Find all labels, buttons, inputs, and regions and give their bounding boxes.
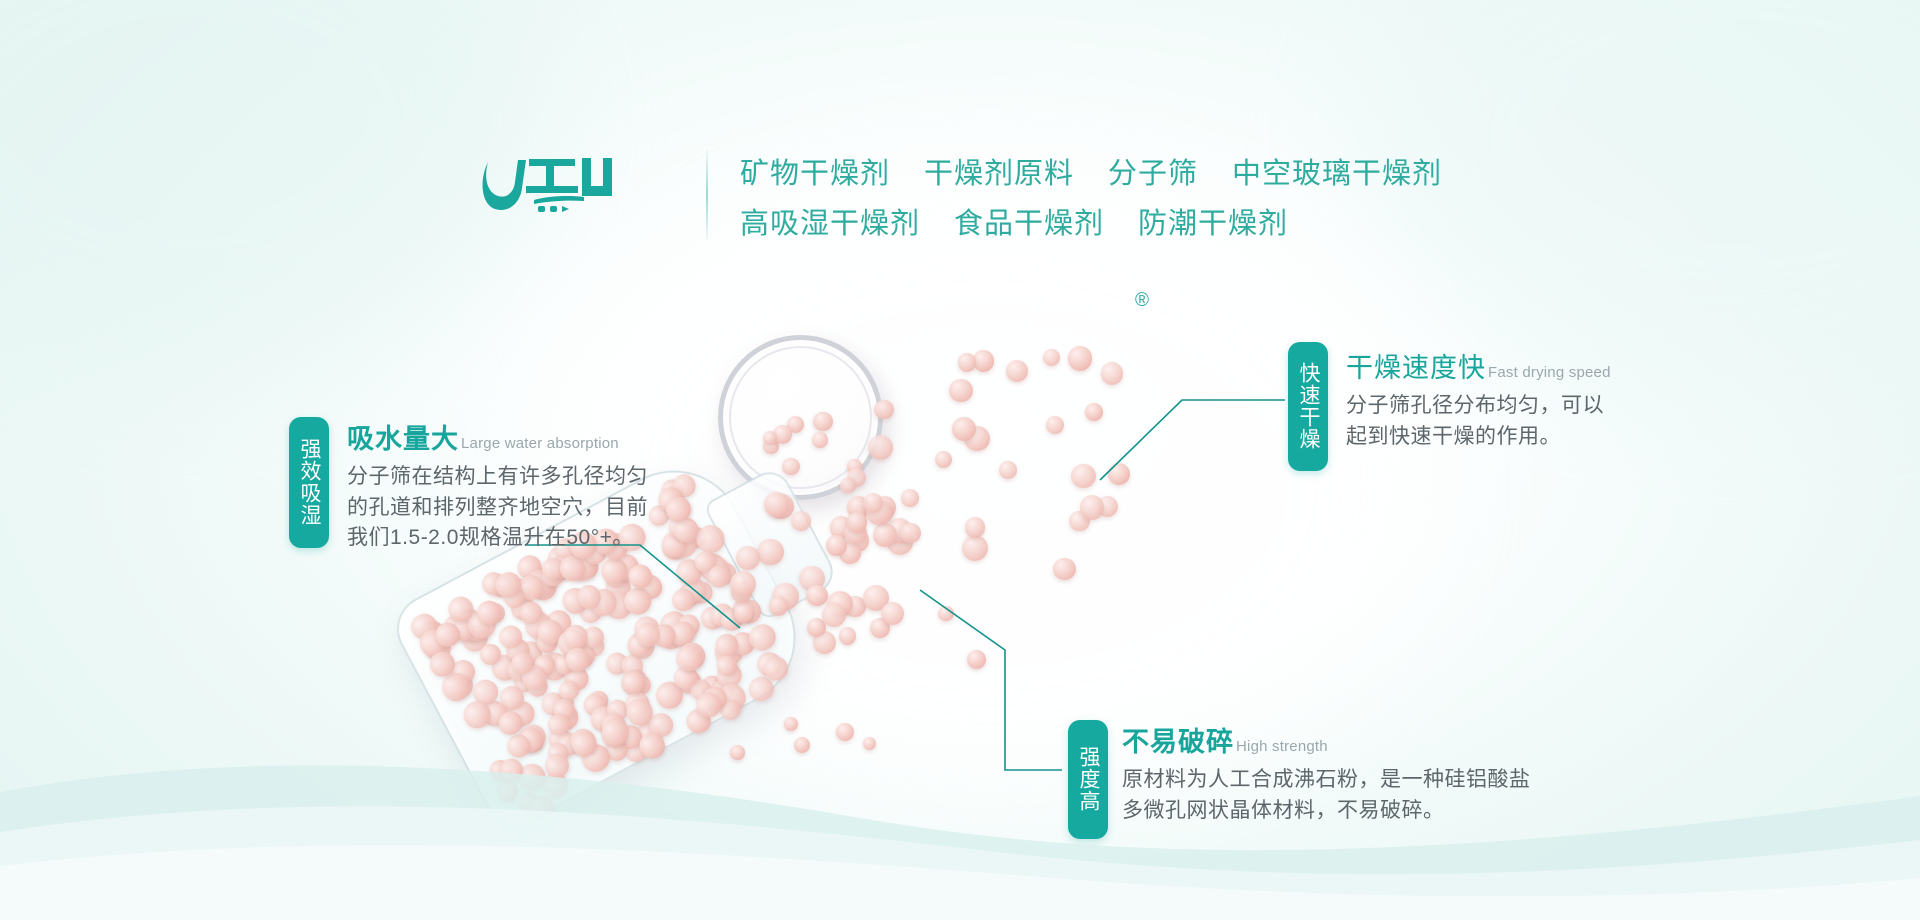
desiccant-bead (806, 585, 828, 607)
brand-logo[interactable]: ® (482, 142, 612, 222)
callout-badge-absorb: 强效吸湿 (289, 417, 329, 548)
desiccant-bead (958, 353, 976, 371)
desiccant-bead (1071, 464, 1095, 488)
callout-text-absorb: 吸水量大 Large water absorption 分子筛在结构上有许多孔径… (329, 417, 648, 554)
header-divider (706, 150, 708, 240)
text-line: 分子筛孔径分布均匀，可以 (1346, 391, 1611, 422)
callout-large-water-absorption: 强效吸湿 吸水量大 Large water absorption 分子筛在结构上… (289, 417, 648, 554)
callout-body-fast: 分子筛孔径分布均匀，可以起到快速干燥的作用。 (1346, 391, 1611, 452)
desiccant-bead (900, 523, 921, 544)
nav-item[interactable]: 防潮干燥剂 (1138, 200, 1288, 242)
registered-mark: ® (1135, 290, 1149, 312)
desiccant-bead (965, 517, 986, 538)
callout-body-absorb: 分子筛在结构上有许多孔径均匀的孔道和排列整齐地空穴，目前我们1.5-2.0规格温… (347, 462, 648, 554)
desiccant-bead (935, 451, 952, 468)
desiccant-bead (839, 627, 856, 644)
desiccant-bead (763, 431, 777, 445)
banner-stage: ® 矿物干燥剂干燥剂原料分子筛中空玻璃干燥剂高吸湿干燥剂食品干燥剂防潮干燥剂 强… (0, 0, 1920, 920)
callout-text-fast: 干燥速度快 Fast drying speed 分子筛孔径分布均匀，可以起到快速… (1328, 342, 1611, 452)
desiccant-bead (949, 379, 973, 403)
desiccant-bead (901, 489, 918, 506)
desiccant-bead (1108, 463, 1130, 485)
desiccant-bead (782, 458, 800, 476)
desiccant-bead (847, 512, 867, 532)
desiccant-bead (881, 602, 905, 626)
nav-item[interactable]: 中空玻璃干燥剂 (1232, 150, 1442, 192)
text-line: 我们1.5-2.0规格温升在50°+。 (347, 523, 648, 554)
desiccant-bead (874, 400, 894, 420)
desiccant-bead (1068, 346, 1093, 371)
desiccant-bead (730, 571, 756, 597)
callout-title-cn: 吸水量大 (347, 417, 459, 456)
desiccant-bead (938, 606, 954, 622)
logo-mark-icon (482, 142, 612, 222)
desiccant-bead (1046, 416, 1064, 434)
nav-item[interactable]: 食品干燥剂 (954, 200, 1104, 242)
bottom-wave-decoration (0, 700, 1920, 920)
callout-title-cn: 干燥速度快 (1346, 346, 1486, 385)
desiccant-bead (973, 350, 995, 372)
desiccant-bead (757, 539, 784, 566)
desiccant-bead (734, 603, 753, 622)
desiccant-bead (1053, 558, 1076, 581)
desiccant-bead (736, 546, 760, 570)
desiccant-bead (791, 511, 811, 531)
nav-item[interactable]: 高吸湿干燥剂 (740, 200, 920, 242)
callout-title-fast: 干燥速度快 Fast drying speed (1346, 346, 1611, 385)
nav-item[interactable]: 干燥剂原料 (924, 150, 1074, 192)
text-line: 的孔道和排列整齐地空穴，目前 (347, 493, 648, 524)
desiccant-bead (826, 535, 847, 556)
desiccant-bead (868, 435, 893, 460)
text-line: 分子筛在结构上有许多孔径均匀 (347, 462, 648, 493)
desiccant-bead (1085, 403, 1103, 421)
desiccant-bead (1006, 360, 1028, 382)
desiccant-bead (769, 596, 788, 615)
desiccant-bead (764, 492, 789, 517)
desiccant-bead (822, 603, 846, 627)
nav-item[interactable]: 矿物干燥剂 (740, 150, 890, 192)
nav-row-1: 高吸湿干燥剂食品干燥剂防潮干燥剂 (740, 198, 1560, 244)
desiccant-bead (999, 461, 1017, 479)
desiccant-bead (812, 432, 827, 447)
nav-row-0: 矿物干燥剂干燥剂原料分子筛中空玻璃干燥剂 (740, 148, 1560, 194)
site-header: ® 矿物干燥剂干燥剂原料分子筛中空玻璃干燥剂高吸湿干燥剂食品干燥剂防潮干燥剂 (0, 0, 1920, 260)
header-nav: 矿物干燥剂干燥剂原料分子筛中空玻璃干燥剂高吸湿干燥剂食品干燥剂防潮干燥剂 (740, 148, 1560, 244)
text-line: 起到快速干燥的作用。 (1346, 422, 1611, 453)
desiccant-bead (840, 478, 856, 494)
callout-title-en: Fast drying speed (1488, 364, 1611, 381)
desiccant-bead (813, 412, 832, 431)
desiccant-bead (962, 535, 988, 561)
callout-badge-fast: 快速干燥 (1288, 342, 1328, 471)
desiccant-bead (967, 650, 986, 669)
desiccant-bead (1043, 349, 1060, 366)
nav-item[interactable]: 分子筛 (1108, 150, 1198, 192)
desiccant-bead (1080, 495, 1105, 520)
callout-title-absorb: 吸水量大 Large water absorption (347, 417, 648, 456)
callout-title-en: Large water absorption (461, 435, 619, 452)
desiccant-bead (1101, 362, 1124, 385)
callout-fast-drying-speed: 快速干燥 干燥速度快 Fast drying speed 分子筛孔径分布均匀，可… (1288, 342, 1611, 471)
